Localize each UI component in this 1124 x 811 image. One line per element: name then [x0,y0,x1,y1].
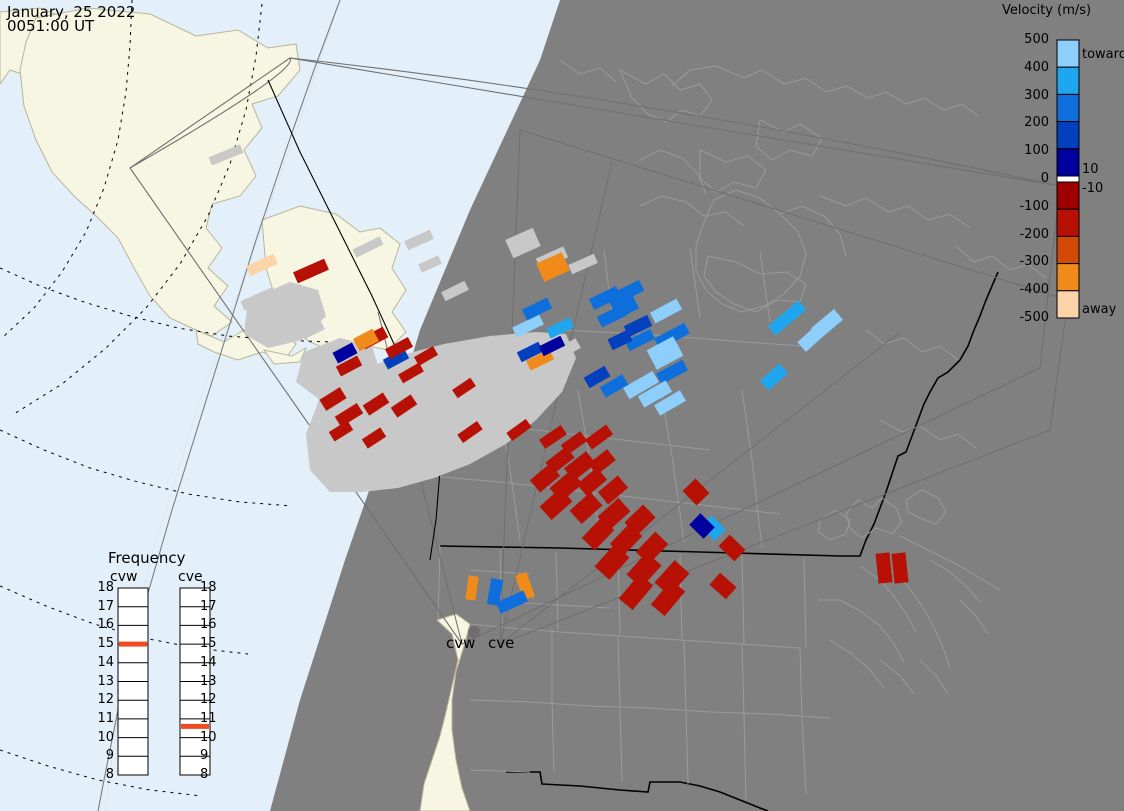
frequency-scale-label: 8 [92,767,114,782]
frequency-scale-label: 11 [92,711,114,726]
frequency-scale-label: 16 [200,617,222,632]
colorbar-title: Velocity (m/s) [1002,3,1091,18]
frequency-scale-label: 13 [92,674,114,689]
colorbar-tick-label: 400 [1003,60,1049,75]
frequency-scale-label: 10 [200,730,222,745]
colorbar-tick-label: 200 [1003,115,1049,130]
frequency-scale-label: 8 [200,767,222,782]
colorbar-inner-negative-label: -10 [1082,181,1103,196]
page-title-time: 0051:00 UT [7,17,94,35]
colorbar-toward-label: toward [1082,47,1124,62]
frequency-scale-label: 9 [92,748,114,763]
frequency-scale-label: 10 [92,730,114,745]
frequency-scale-label: 18 [200,580,222,595]
colorbar-tick-label: -400 [1003,282,1049,297]
colorbar-tick-label: 500 [1003,32,1049,47]
frequency-scale-label: 15 [92,636,114,651]
frequency-scale-label: 14 [92,655,114,670]
colorbar-tick-label: 100 [1003,143,1049,158]
colorbar-tick-label: -200 [1003,227,1049,242]
colorbar-tick-label: -100 [1003,199,1049,214]
frequency-scale-label: 9 [200,748,222,763]
colorbar-tick-label: 300 [1003,88,1049,103]
frequency-scale-label: 17 [200,599,222,614]
frequency-scale-label: 12 [200,692,222,707]
frequency-scale-label: 14 [200,655,222,670]
frequency-scale-label: 17 [92,599,114,614]
frequency-scale-label: 15 [200,636,222,651]
frequency-legend-title: Frequency [108,549,186,567]
frequency-scale-label: 13 [200,674,222,689]
frequency-column-header-cvw: cvw [110,569,137,585]
frequency-scale-label: 16 [92,617,114,632]
frequency-column-header-cve: cve [178,569,203,585]
map-canvas [0,0,1124,811]
colorbar-inner-positive-label: 10 [1082,162,1099,177]
colorbar-tick-label: -300 [1003,254,1049,269]
colorbar-tick-label: -500 [1003,310,1049,325]
colorbar-away-label: away [1082,302,1116,317]
radar-velocity-map: January, 25 2022 0051:00 UT Velocity (m/… [0,0,1124,811]
colorbar-tick-label: 0 [1003,171,1049,186]
frequency-scale-label: 11 [200,711,222,726]
radar-site-label-cvw: cvw [446,634,475,652]
frequency-scale-label: 12 [92,692,114,707]
radar-site-label-cve: cve [488,634,514,652]
frequency-scale-label: 18 [92,580,114,595]
